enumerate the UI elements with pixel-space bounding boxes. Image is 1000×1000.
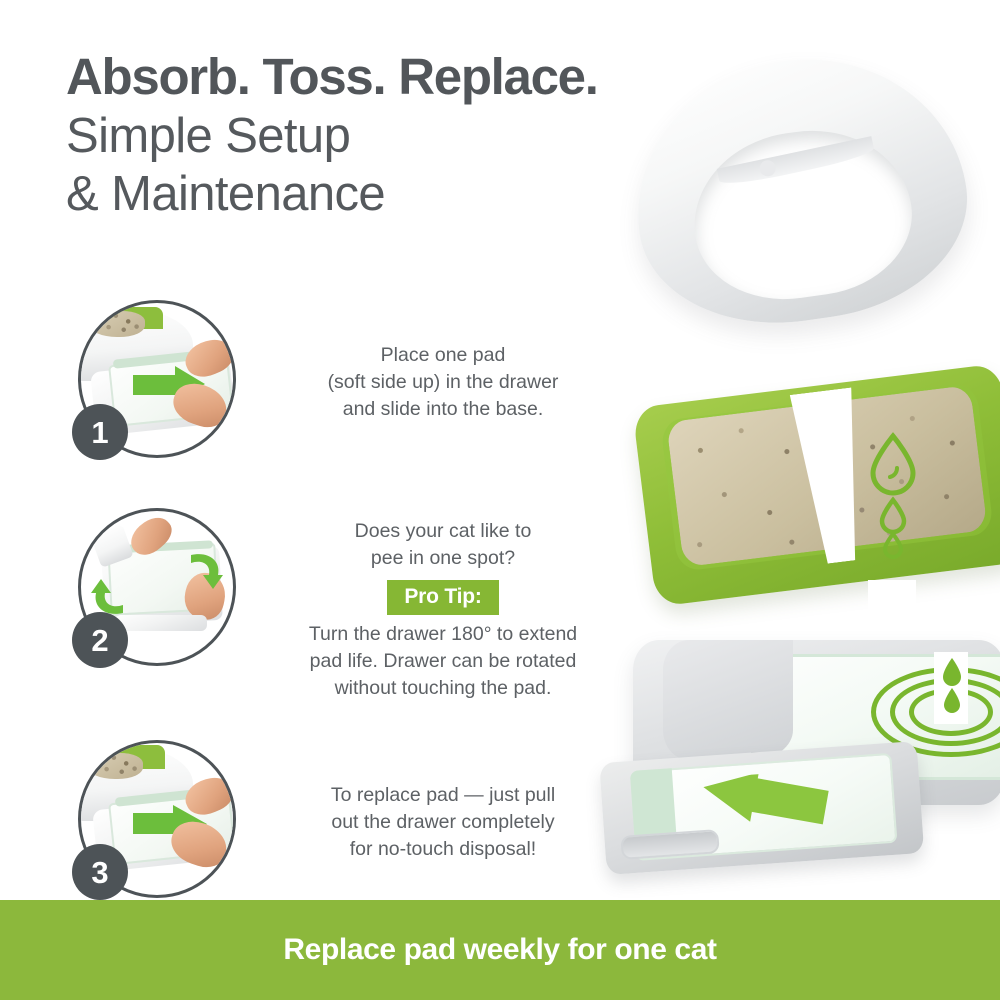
rotate-arrow-right-icon xyxy=(185,549,225,591)
step-1: 1 Place one pad (soft side up) in the dr… xyxy=(78,300,598,470)
step-1-line-1: Place one pad xyxy=(278,342,608,369)
step-1-line-3: and slide into the base. xyxy=(278,396,608,423)
grey-base-unit xyxy=(603,640,1000,840)
headline-line-1: Absorb. Toss. Replace. xyxy=(66,48,846,106)
step-1-text: Place one pad (soft side up) in the draw… xyxy=(278,342,608,423)
step-3-line-2: out the drawer completely xyxy=(278,809,608,836)
headline-line-3: & Maintenance xyxy=(66,166,846,222)
step-2-text: Does your cat like to pee in one spot? P… xyxy=(268,518,618,702)
droplet-icon-group-lower xyxy=(935,654,969,720)
base-front-lip xyxy=(663,640,793,760)
pull-out-drawer[interactable] xyxy=(599,741,925,883)
step-1-line-2: (soft side up) in the drawer xyxy=(278,369,608,396)
pad-direction-arrow-icon xyxy=(697,769,833,838)
green-litter-pan xyxy=(632,363,1000,607)
step-3-line-3: for no-touch disposal! xyxy=(278,836,608,863)
step-1-number: 1 xyxy=(72,404,128,460)
step-2: 2 Does your cat like to pee in one spot?… xyxy=(78,508,608,708)
litter-pellets xyxy=(87,753,143,779)
step-2-line-4: pad life. Drawer can be rotated xyxy=(268,648,618,675)
drawer-front-handle xyxy=(115,615,207,631)
pro-tip-badge: Pro Tip: xyxy=(387,580,498,615)
step-2-line-2: pee in one spot? xyxy=(268,545,618,572)
droplet-icon-group-upper xyxy=(863,430,923,560)
headline-line-2: Simple Setup xyxy=(66,108,846,164)
infographic-page: Absorb. Toss. Replace. Simple Setup & Ma… xyxy=(0,0,1000,1000)
step-3-line-1: To replace pad — just pull xyxy=(278,782,608,809)
banner-text: Replace pad weekly for one cat xyxy=(0,900,1000,1000)
page-title: Absorb. Toss. Replace. Simple Setup & Ma… xyxy=(66,48,846,222)
bottom-banner: Replace pad weekly for one cat xyxy=(0,900,1000,1000)
step-3-text: To replace pad — just pull out the drawe… xyxy=(278,782,608,863)
step-3: 3 To replace pad — just pull out the dra… xyxy=(78,740,598,910)
step-3-number: 3 xyxy=(72,844,128,900)
step-2-number: 2 xyxy=(72,612,128,668)
step-2-line-5: without touching the pad. xyxy=(268,675,618,702)
step-2-line-1: Does your cat like to xyxy=(268,518,618,545)
step-2-line-3: Turn the drawer 180° to extend xyxy=(268,621,618,648)
litter-pellets xyxy=(89,311,145,337)
